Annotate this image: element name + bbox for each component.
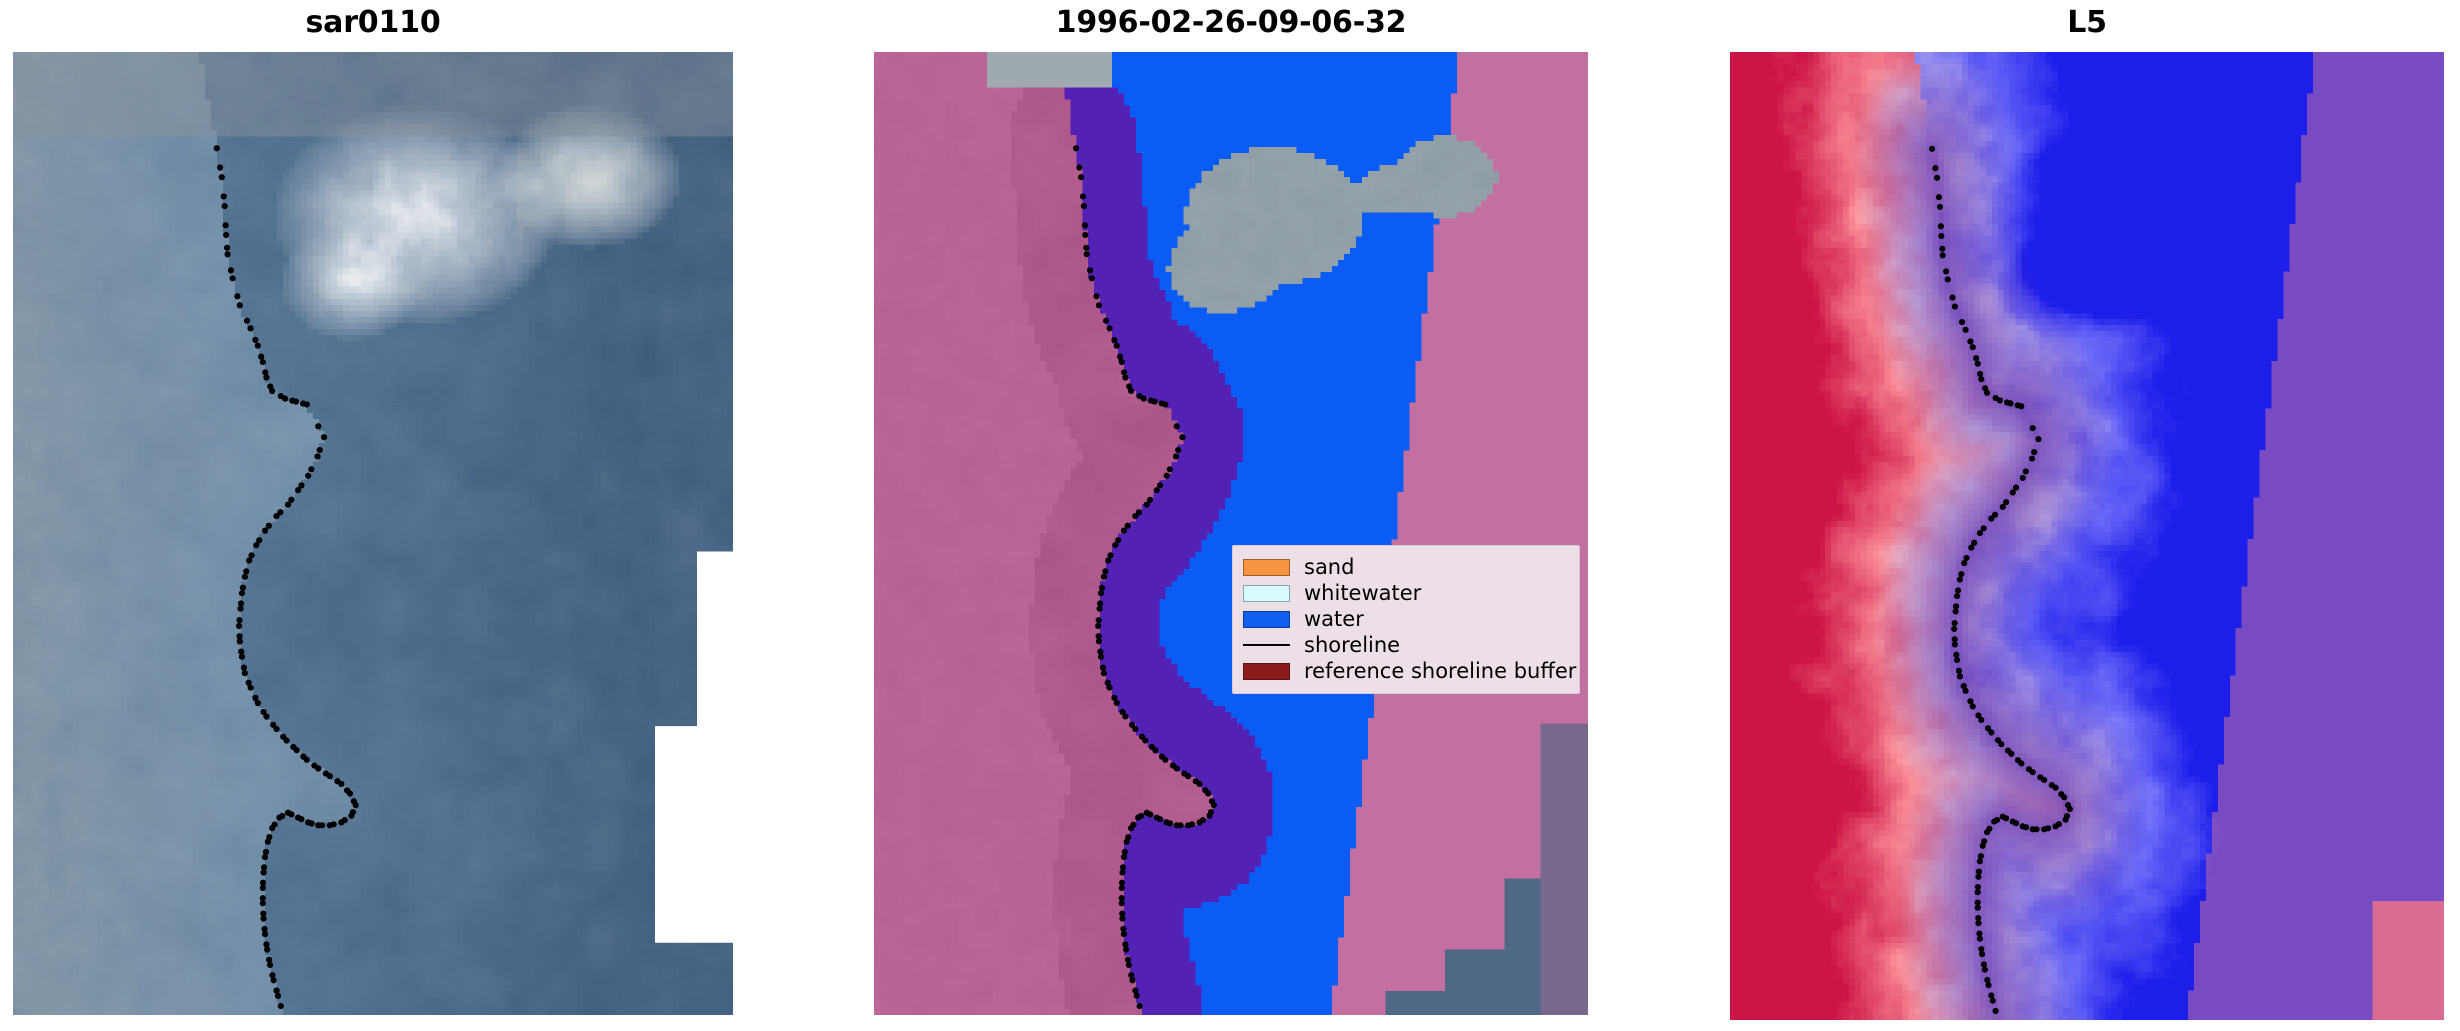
legend-item-reference-shoreline-buffer: reference shoreline buffer (1243, 658, 1569, 684)
legend-label-water: water (1304, 607, 1364, 631)
legend-swatch-sand (1243, 559, 1290, 576)
legend-label-shoreline: shoreline (1304, 633, 1400, 657)
legend-swatch-water (1243, 611, 1290, 628)
legend-item-shoreline: shoreline (1243, 632, 1569, 658)
axes-sar (13, 52, 733, 1015)
axes-classification (874, 52, 1588, 1015)
panel-sar: sar0110 (13, 0, 733, 1031)
panel-title-sar: sar0110 (13, 0, 733, 52)
legend-label-reference-shoreline-buffer: reference shoreline buffer (1304, 659, 1576, 683)
index-raster (1730, 52, 2444, 1020)
axes-index (1730, 52, 2444, 1020)
panel-title-index: L5 (1730, 0, 2444, 52)
legend-swatch-whitewater (1243, 585, 1290, 602)
legend-swatch-shoreline (1243, 644, 1290, 646)
panel-classification: 1996-02-26-09-06-32 (874, 0, 1588, 1031)
legend-label-whitewater: whitewater (1304, 581, 1421, 605)
legend-label-sand: sand (1304, 555, 1354, 579)
legend-item-whitewater: whitewater (1243, 580, 1569, 606)
legend-swatch-reference-shoreline-buffer (1243, 663, 1290, 680)
legend-item-water: water (1243, 606, 1569, 632)
figure-canvas: sar0110 1996-02-26-09-06-32 L5 (0, 0, 2460, 1031)
legend-box: sand whitewater water shoreline referenc… (1232, 545, 1580, 694)
panel-title-classification: 1996-02-26-09-06-32 (874, 0, 1588, 52)
legend-item-sand: sand (1243, 554, 1569, 580)
panel-index: L5 (1730, 0, 2444, 1031)
classification-raster (874, 52, 1588, 1015)
sar-raster (13, 52, 733, 1015)
